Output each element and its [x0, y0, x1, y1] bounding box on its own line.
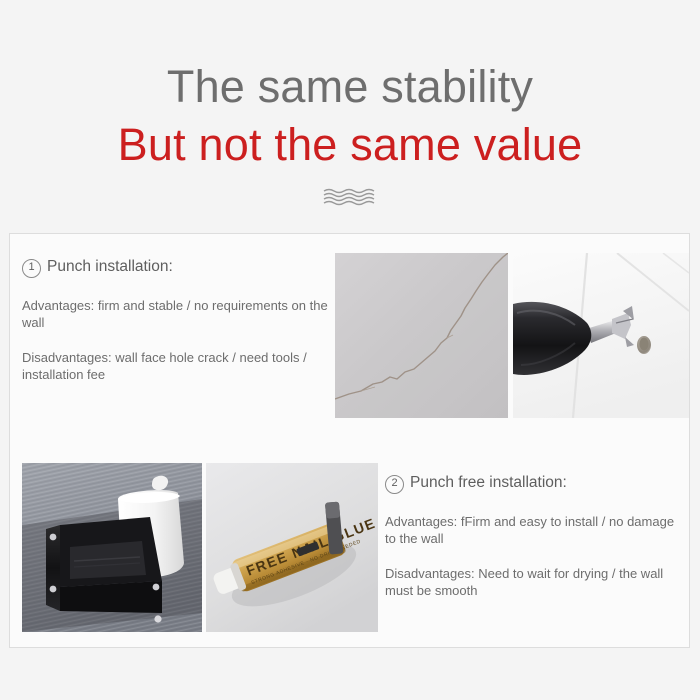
section-1-heading: 1Punch installation: — [22, 256, 332, 278]
punch-installation-section: 1Punch installation: Advantages: firm an… — [22, 256, 332, 383]
section-2-heading-label: Punch free installation: — [410, 474, 567, 491]
shelf-photo — [22, 463, 202, 632]
section-1-heading-label: Punch installation: — [47, 258, 173, 275]
section-2-number-badge: 2 — [385, 475, 404, 494]
section-2-heading: 2Punch free installation: — [385, 472, 685, 494]
section-2-disadvantages: Disadvantages: Need to wait for drying /… — [385, 565, 685, 599]
glue-photo: FREE NAIL GLUE STRONG ADHESIVE · NO DRIL… — [206, 463, 378, 632]
section-1-number-badge: 1 — [22, 259, 41, 278]
section-1-advantages: Advantages: firm and stable / no require… — [22, 297, 332, 331]
punch-free-installation-section: 2Punch free installation: Advantages: fF… — [385, 472, 685, 599]
comparison-card: 1Punch installation: Advantages: firm an… — [9, 233, 690, 648]
header-banner: The same stability But not the same valu… — [0, 0, 700, 233]
page-title-secondary: But not the same value — [0, 118, 700, 172]
drill-photo — [513, 253, 689, 418]
section-1-disadvantages: Disadvantages: wall face hole crack / ne… — [22, 349, 332, 383]
wave-divider-icon — [320, 186, 380, 208]
section-2-advantages: Advantages: fFirm and easy to install / … — [385, 513, 685, 547]
wall-crack-photo — [335, 253, 508, 418]
page-title-primary: The same stability — [0, 60, 700, 114]
